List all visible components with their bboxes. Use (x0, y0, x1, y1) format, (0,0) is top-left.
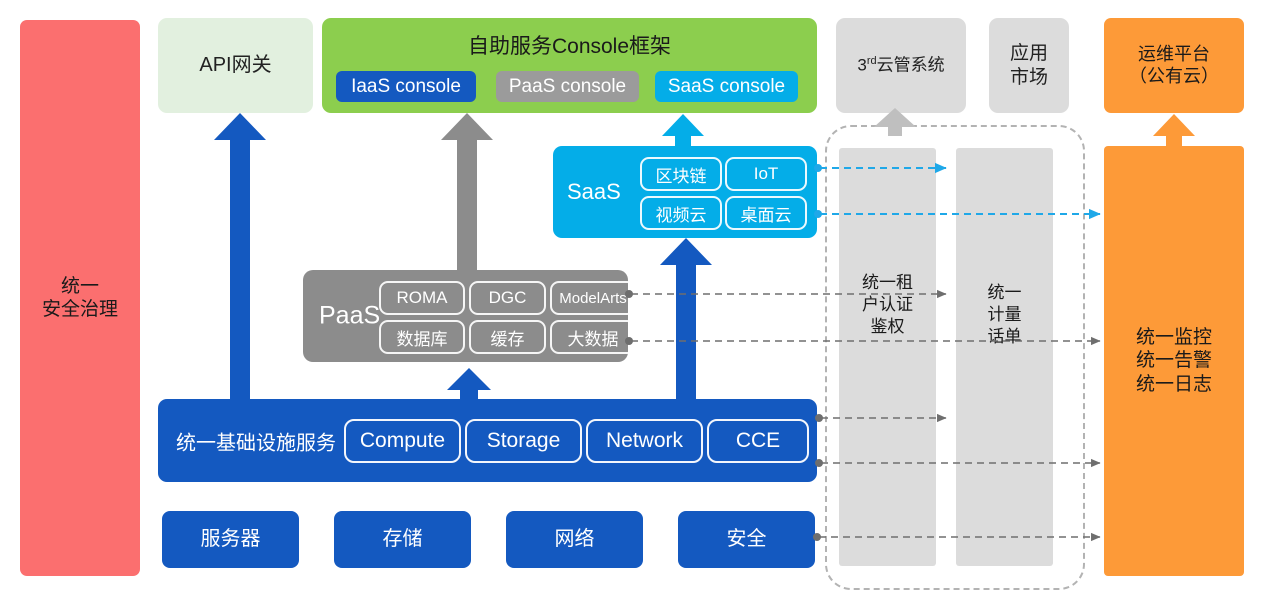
metering-line1: 统一 (956, 282, 1053, 304)
paas-pill-bigdata-label: 大数据 (568, 325, 619, 350)
saas-pill-video-cloud-label: 视频云 (656, 201, 707, 226)
tenant-auth-line1: 统一租 (839, 272, 936, 294)
paas-pill-cache[interactable]: 缓存 (469, 320, 546, 354)
saas-pill-iot[interactable]: IoT (725, 157, 807, 191)
paas-console-label: PaaS console (509, 76, 626, 98)
app-market-box[interactable]: 应用 市场 (989, 18, 1069, 113)
arrow-paas-to-console (441, 113, 493, 270)
unified-metering-column: 统一 计量 话单 (956, 148, 1053, 566)
paas-panel-label: PaaS (319, 302, 380, 331)
infra-pill-cce[interactable]: CCE (707, 419, 809, 463)
metering-line3: 话单 (956, 326, 1053, 348)
infra-pill-storage-label: Storage (487, 429, 561, 453)
app-market-line1: 应用 (1010, 42, 1048, 65)
unified-security-line2: 安全治理 (42, 298, 118, 321)
resource-security-label: 安全 (727, 527, 767, 551)
self-service-console-frame: 自助服务Console框架 IaaS console PaaS console … (322, 18, 817, 113)
architecture-diagram: 统一 安全治理 API网关 自助服务Console框架 IaaS console… (0, 0, 1265, 605)
paas-pill-roma-label: ROMA (397, 288, 448, 308)
ops-side-line3: 统一日志 (1136, 373, 1212, 396)
infra-pill-compute-label: Compute (360, 429, 445, 453)
unified-infrastructure-panel: 统一基础设施服务 Compute Storage Network CCE (158, 399, 817, 482)
ops-platform-top-box[interactable]: 运维平台 （公有云） (1104, 18, 1244, 113)
paas-pill-dgc-label: DGC (489, 288, 527, 308)
saas-pill-iot-label: IoT (754, 164, 779, 184)
ops-side-line1: 统一监控 (1136, 326, 1212, 349)
resource-box-storage[interactable]: 存储 (334, 511, 471, 568)
third-party-cloud-mgmt-box[interactable]: 3rd云管系统 (836, 18, 966, 113)
saas-pill-video-cloud[interactable]: 视频云 (640, 196, 722, 230)
infra-pill-storage[interactable]: Storage (465, 419, 582, 463)
resource-box-server[interactable]: 服务器 (162, 511, 299, 568)
console-frame-title: 自助服务Console框架 (322, 30, 817, 60)
ops-platform-line2: （公有云） (1129, 66, 1219, 88)
iaas-console-chip[interactable]: IaaS console (336, 71, 476, 102)
ops-side-line2: 统一告警 (1136, 349, 1212, 372)
unified-infrastructure-label: 统一基础设施服务 (176, 426, 336, 455)
iaas-console-label: IaaS console (351, 76, 461, 98)
resource-server-label: 服务器 (201, 527, 261, 551)
ops-platform-line1: 运维平台 (1138, 44, 1210, 66)
infra-pill-network[interactable]: Network (586, 419, 703, 463)
paas-pill-modelarts-label: ModelArts (559, 290, 627, 307)
resource-network-label: 网络 (555, 527, 595, 551)
saas-pill-desktop-cloud[interactable]: 桌面云 (725, 196, 807, 230)
saas-console-label: SaaS console (668, 76, 785, 98)
paas-panel: PaaS ROMA DGC ModelArts 数据库 缓存 大数据 (303, 270, 628, 362)
resource-box-security[interactable]: 安全 (678, 511, 815, 568)
tenant-auth-line2: 户认证 (839, 294, 936, 316)
paas-pill-database[interactable]: 数据库 (379, 320, 465, 354)
saas-console-chip[interactable]: SaaS console (655, 71, 798, 102)
paas-pill-modelarts[interactable]: ModelArts (550, 281, 636, 315)
paas-pill-roma[interactable]: ROMA (379, 281, 465, 315)
third-party-prefix: 3 (857, 55, 866, 74)
paas-pill-database-label: 数据库 (397, 325, 448, 350)
third-party-rest: 云管系统 (877, 55, 945, 74)
app-market-line2: 市场 (1010, 66, 1048, 89)
third-party-cloud-label: 3rd云管系统 (857, 55, 944, 76)
third-party-sup: rd (867, 55, 877, 67)
arrow-infra-to-paas (447, 368, 491, 399)
saas-panel: SaaS 区块链 IoT 视频云 桌面云 (553, 146, 817, 238)
unified-security-line1: 统一 (61, 275, 99, 298)
saas-pill-desktop-cloud-label: 桌面云 (741, 201, 792, 226)
resource-storage-label: 存储 (383, 527, 423, 551)
unified-tenant-auth-column: 统一租 户认证 鉴权 (839, 148, 936, 566)
paas-pill-dgc[interactable]: DGC (469, 281, 546, 315)
arrow-infra-to-saas (660, 238, 712, 399)
saas-panel-label: SaaS (567, 179, 621, 205)
arrow-saas-to-saas-console (662, 114, 704, 146)
saas-pill-blockchain-label: 区块链 (656, 162, 707, 187)
metering-line2: 计量 (956, 304, 1053, 326)
unified-security-panel: 统一 安全治理 (20, 20, 140, 576)
api-gateway-label: API网关 (199, 53, 271, 77)
arrow-infra-to-api-gateway (214, 113, 266, 399)
unified-tenant-auth-text: 统一租 户认证 鉴权 (839, 272, 936, 338)
arrow-ops-side-to-ops-top (1153, 114, 1195, 146)
tenant-auth-line3: 鉴权 (839, 316, 936, 338)
unified-metering-text: 统一 计量 话单 (956, 282, 1053, 348)
resource-box-network[interactable]: 网络 (506, 511, 643, 568)
infra-pill-network-label: Network (606, 429, 683, 453)
saas-pill-blockchain[interactable]: 区块链 (640, 157, 722, 191)
infra-pill-compute[interactable]: Compute (344, 419, 461, 463)
paas-pill-bigdata[interactable]: 大数据 (550, 320, 636, 354)
api-gateway-box[interactable]: API网关 (158, 18, 313, 113)
ops-platform-side-panel: 统一监控 统一告警 统一日志 (1104, 146, 1244, 576)
infra-pill-cce-label: CCE (736, 429, 780, 453)
paas-pill-cache-label: 缓存 (491, 325, 525, 350)
paas-console-chip[interactable]: PaaS console (496, 71, 639, 102)
